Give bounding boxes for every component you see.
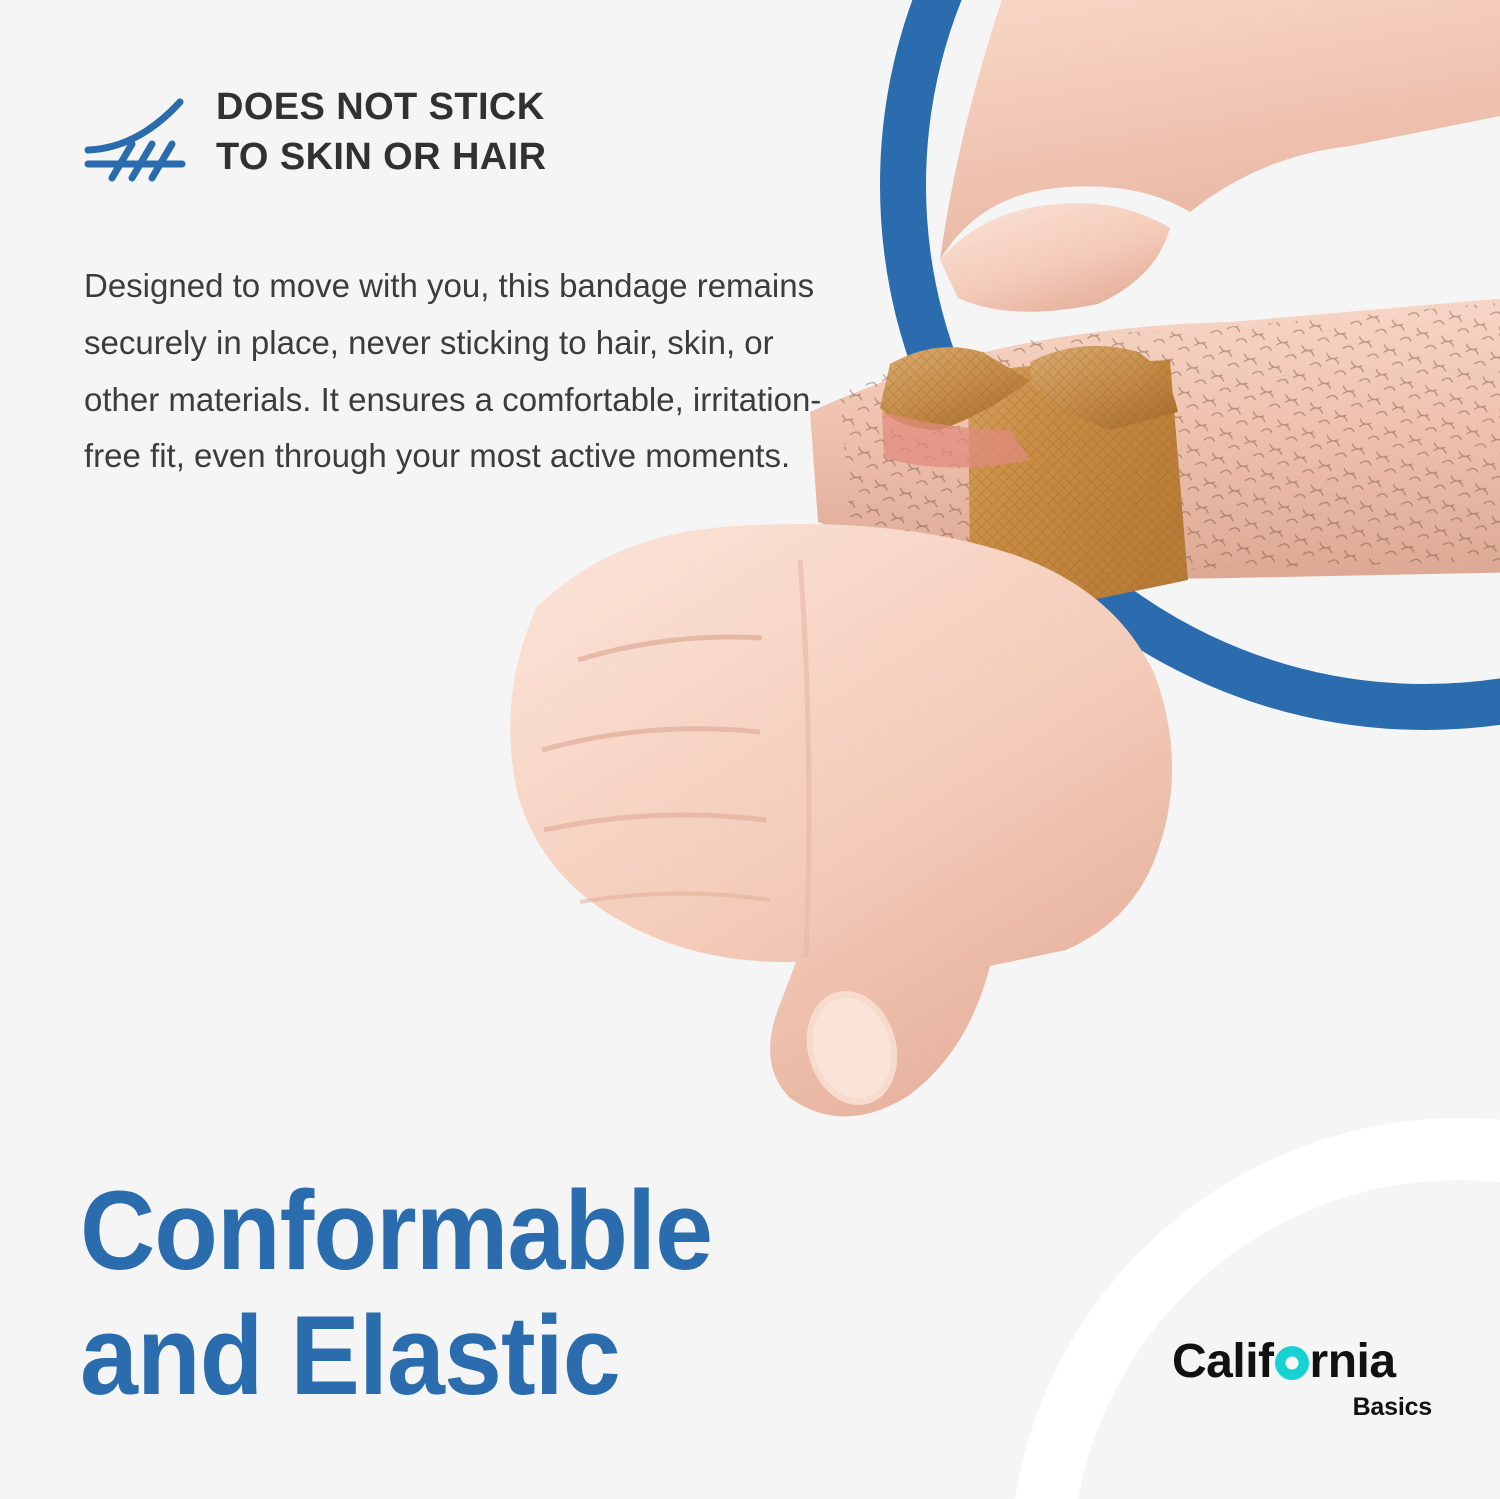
feature-title-line-2: TO SKIN OR HAIR	[216, 132, 546, 182]
feature-title: DOES NOT STICK TO SKIN OR HAIR	[216, 82, 546, 182]
brand-o-icon	[1275, 1346, 1309, 1380]
brand-logo: Califrnia Basics	[1172, 1338, 1432, 1422]
feature-header: DOES NOT STICK TO SKIN OR HAIR	[82, 82, 842, 184]
brand-subtitle: Basics	[1172, 1393, 1432, 1422]
page-headline: Conformable and Elastic	[80, 1168, 954, 1419]
product-feature-banner: DOES NOT STICK TO SKIN OR HAIR Designed …	[0, 0, 1500, 1499]
feature-title-line-1: DOES NOT STICK	[216, 82, 546, 132]
headline-line-2: and Elastic	[80, 1293, 954, 1418]
no-stick-hair-icon	[82, 88, 190, 184]
headline-line-1: Conformable	[80, 1168, 954, 1293]
white-ring-decoration	[1010, 1118, 1500, 1499]
feature-description: Designed to move with you, this bandage …	[84, 258, 854, 485]
brand-name: Califrnia	[1172, 1338, 1432, 1386]
brand-name-part-2: rnia	[1310, 1335, 1396, 1388]
brand-name-part-1: Calif	[1172, 1335, 1274, 1388]
